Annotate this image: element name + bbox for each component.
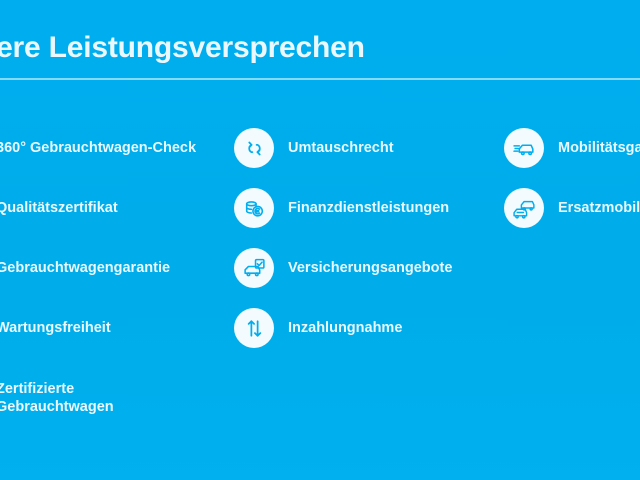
promise-column-3: Mobilitätsgarantie Ersatzmobilität bbox=[504, 118, 640, 238]
exchange-arrows-icon bbox=[234, 128, 274, 168]
car-checkbox-icon bbox=[234, 248, 274, 288]
promise-item-financial-services[interactable]: Finanzdienstleistungen bbox=[234, 178, 504, 238]
promise-item-used-car-warranty[interactable]: Gebrauchtwagengarantie bbox=[0, 238, 232, 298]
promise-label: Versicherungsangebote bbox=[288, 259, 452, 277]
two-cars-icon bbox=[504, 188, 544, 228]
promise-item-insurance-offers[interactable]: Versicherungsangebote bbox=[234, 238, 504, 298]
promise-label: Gebrauchtwagengarantie bbox=[0, 259, 170, 277]
promise-label: Inzahlungnahme bbox=[288, 319, 402, 337]
car-speed-lines-icon bbox=[504, 128, 544, 168]
promise-item-trade-in[interactable]: Inzahlungnahme bbox=[234, 298, 504, 358]
promise-label: Qualitätszertifikat bbox=[0, 199, 118, 217]
title-divider bbox=[0, 78, 640, 80]
page-title: Unsere Leistungsversprechen bbox=[0, 28, 640, 68]
title-block: Unsere Leistungsversprechen bbox=[0, 28, 640, 74]
up-down-arrows-icon bbox=[234, 308, 274, 348]
promise-item-maintenance-free[interactable]: Wartungsfreiheit bbox=[0, 298, 232, 358]
promise-label: Mobilitätsgarantie bbox=[558, 139, 640, 157]
promise-item-mobility-guarantee[interactable]: Mobilitätsgarantie bbox=[504, 118, 640, 178]
promise-label: Zertifizierte Gebrauchtwagen bbox=[0, 380, 166, 416]
promise-item-replacement-mobility[interactable]: Ersatzmobilität bbox=[504, 178, 640, 238]
promise-item-360-check[interactable]: 360° Gebrauchtwagen-Check bbox=[0, 118, 232, 178]
promise-item-quality-certificate[interactable]: Qualitätszertifikat bbox=[0, 178, 232, 238]
promise-label: Finanzdienstleistungen bbox=[288, 199, 449, 217]
promise-label: Wartungsfreiheit bbox=[0, 319, 111, 337]
promise-column-2: Umtauschrecht Finanzdienstleistungen bbox=[234, 118, 504, 358]
promise-item-exchange-right[interactable]: Umtauschrecht bbox=[234, 118, 504, 178]
slide-canvas: Unsere Leistungsversprechen 360° Gebrauc… bbox=[0, 0, 640, 480]
promise-label: Ersatzmobilität bbox=[558, 199, 640, 217]
promise-label: 360° Gebrauchtwagen-Check bbox=[0, 139, 196, 157]
promise-column-1: 360° Gebrauchtwagen-Check Qualitätszerti… bbox=[0, 118, 232, 358]
coins-euro-icon bbox=[234, 188, 274, 228]
promise-item-certified-used-cars[interactable]: Zertifizierte Gebrauchtwagen bbox=[0, 378, 166, 418]
promise-label: Umtauschrecht bbox=[288, 139, 394, 157]
